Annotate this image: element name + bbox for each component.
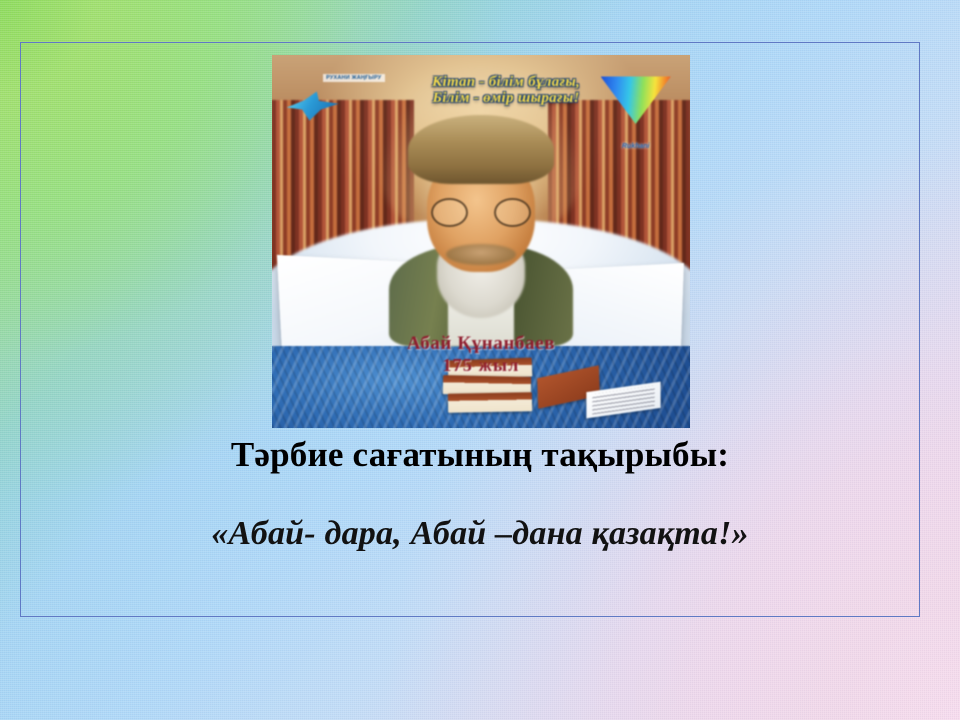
poster-caption: Абай Құнанбаев 175 жыл	[305, 333, 656, 377]
poster-header-line-2: Білім - өмір шырағы!	[397, 90, 614, 107]
abai-portrait	[385, 115, 577, 346]
slide-canvas: РУХАНИ ЖАҢҒЫРУ Rukhani Кітап - білім бұл…	[0, 0, 960, 720]
portrait-glasses-left	[431, 198, 468, 227]
page-title: Тәрбие сағатының тақырыбы:	[0, 437, 960, 472]
poster-image: РУХАНИ ЖАҢҒЫРУ Rukhani Кітап - білім бұл…	[272, 55, 690, 428]
rainbow-logo-text: Rukhani	[594, 143, 678, 150]
portrait-moustache	[446, 244, 515, 265]
page-subtitle: «Абай- дара, Абай –дана қазақта!»	[0, 517, 960, 551]
poster-caption-years: 175 жыл	[305, 355, 656, 376]
portrait-hat	[408, 115, 554, 184]
dove-icon	[287, 91, 339, 120]
poster-header-text: Кітап - білім бұлағы, Білім - өмір шырағ…	[397, 74, 614, 108]
book-stack-bottom	[447, 392, 531, 412]
rukhani-zhangyru-logo: РУХАНИ ЖАҢҒЫРУ	[285, 70, 385, 133]
poster-header-line-1: Кітап - білім бұлағы,	[397, 74, 614, 91]
rukhani-zhangyru-logo-text: РУХАНИ ЖАҢҒЫРУ	[323, 74, 385, 83]
portrait-glasses-right	[494, 198, 531, 227]
poster-caption-name: Абай Құнанбаев	[305, 333, 656, 355]
